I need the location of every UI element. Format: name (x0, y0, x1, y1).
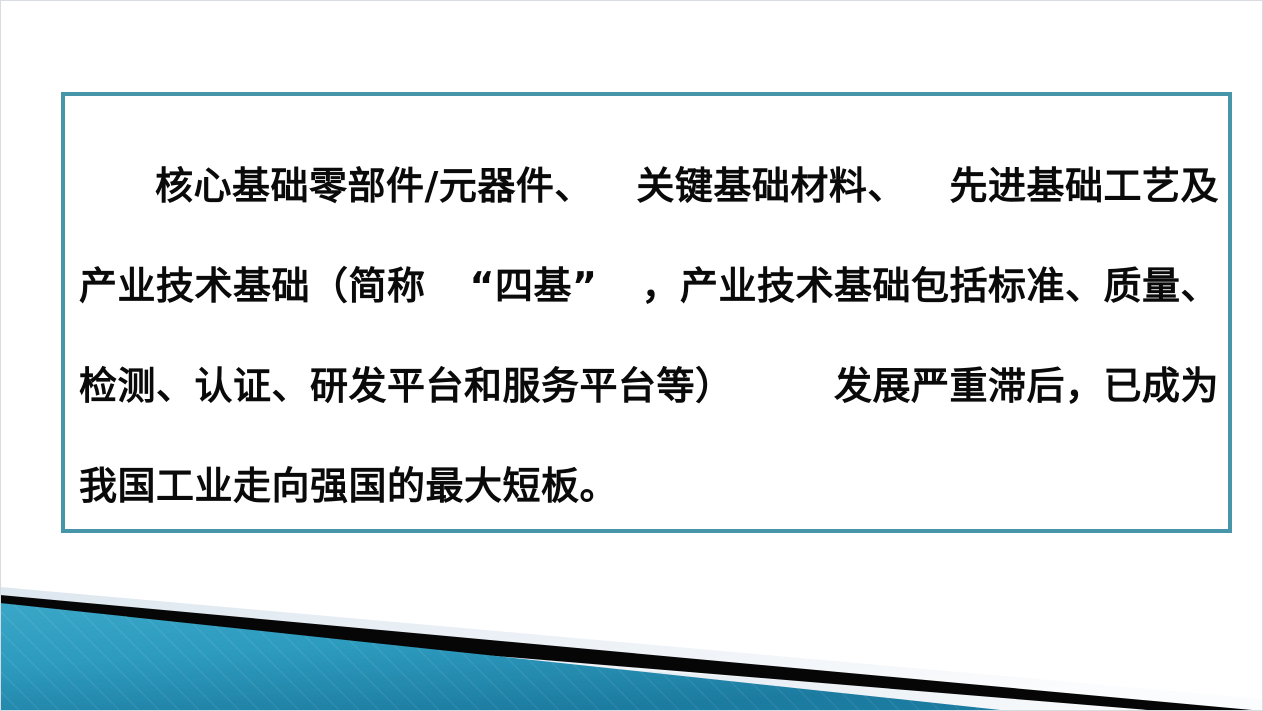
paragraph-line: 产业技术基础（简称 “四基” ，产业技术基础包括标准、质量、 (79, 236, 1219, 336)
paragraph-line-segment: 核心基础零部件/元器件、 (155, 164, 593, 208)
pale-wedge-near (0, 629, 1263, 711)
diagonal-bands-graphic (0, 551, 1263, 711)
bottom-decoration (0, 551, 1263, 711)
paragraph-line: 检测、认证、研发平台和服务平台等） 发展严重滞后，已成为 (79, 336, 1219, 436)
paragraph-body: 核心基础零部件/元器件、 关键基础材料、 先进基础工艺及 产业技术基础（简称 “… (79, 136, 1219, 536)
paragraph-line-segment: 关键基础材料、 (636, 136, 906, 236)
content-box: 核心基础零部件/元器件、 关键基础材料、 先进基础工艺及 产业技术基础（简称 “… (61, 92, 1232, 533)
paragraph-line: 我国工业走向强国的最大短板。 (79, 436, 1219, 536)
paragraph-line-indent: 核心基础零部件/元器件、 (79, 136, 593, 236)
paragraph-line-segment: 先进基础工艺及 (949, 136, 1219, 236)
paragraph-line-segment: 我国工业走向强国的最大短板。 (79, 464, 618, 508)
paragraph-line-segment: 发展严重滞后，已成为 (834, 336, 1219, 436)
pale-wedge-far (0, 587, 1263, 711)
paragraph-line-segment: ，产业技术基础包括标准、质量、 (641, 236, 1219, 336)
paragraph-line: 核心基础零部件/元器件、 关键基础材料、 先进基础工艺及 (79, 136, 1219, 236)
teal-band-texture (0, 551, 1263, 711)
paragraph-line-segment: 产业技术基础（简称 (79, 236, 426, 336)
slide-canvas: 核心基础零部件/元器件、 关键基础材料、 先进基础工艺及 产业技术基础（简称 “… (0, 0, 1263, 711)
paragraph-line-segment: “四基” (470, 236, 598, 336)
black-diagonal-stripe (0, 595, 1263, 711)
paragraph-line-segment: 检测、认证、研发平台和服务平台等） (79, 336, 734, 436)
teal-diagonal-band (0, 603, 1010, 711)
